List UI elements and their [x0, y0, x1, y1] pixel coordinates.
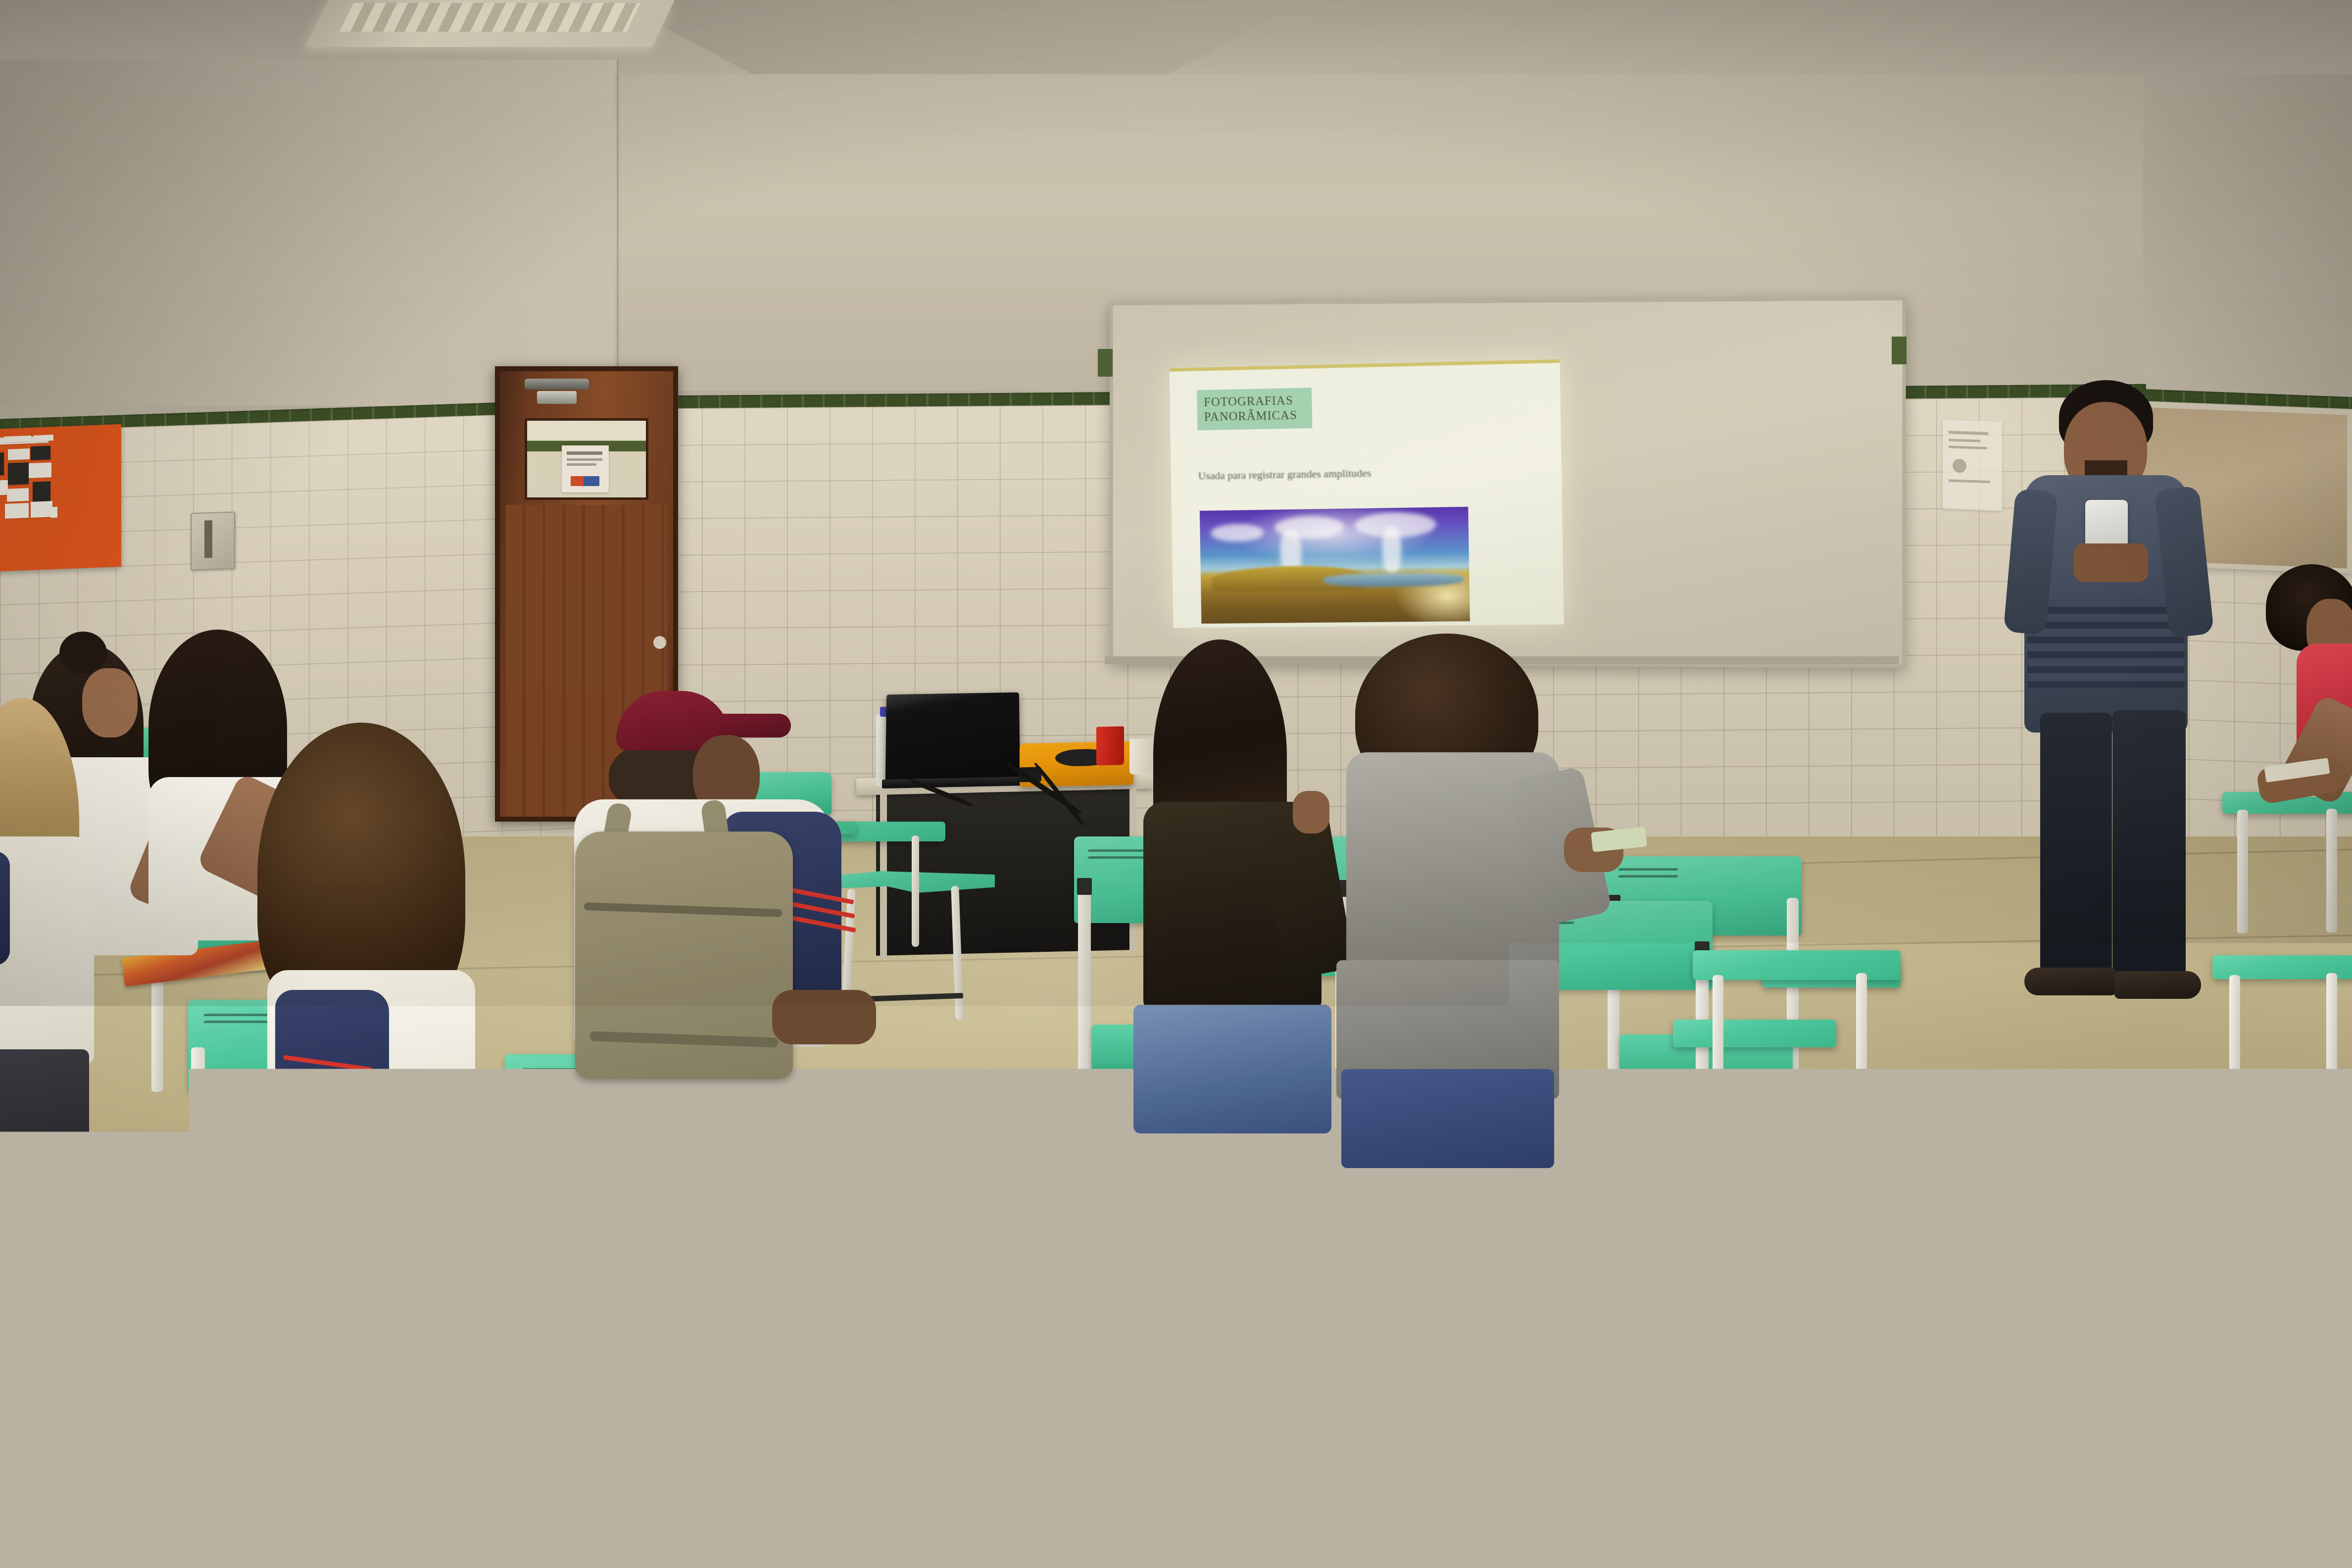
- slide-title-box: FOTOGRAFIAS PANORÂMICAS: [1197, 388, 1312, 430]
- board-text-card: [8, 448, 30, 460]
- student-blonde-pants: [0, 1049, 89, 1213]
- board-photo-card: [31, 445, 50, 460]
- door-closer-body: [537, 391, 577, 404]
- laptop-screen[interactable]: [885, 692, 1020, 784]
- student-shoe: [124, 1336, 272, 1406]
- student-cap-shoe: [940, 1297, 1029, 1344]
- student-long-hair-jeans: [1133, 1005, 1331, 1133]
- slide-subtitle: Usada para registrar grandes amplitudes: [1198, 464, 1534, 482]
- wall-notice-paper: [1943, 420, 2002, 511]
- student-curly-grey-jeans: [1341, 1069, 1554, 1168]
- wall-left-upper: [0, 59, 619, 406]
- light-switch[interactable]: [191, 511, 235, 570]
- presenter-right-leg: [2112, 710, 2186, 980]
- projected-slide: FOTOGRAFIAS PANORÂMICAS Usada para regis…: [1170, 359, 1564, 628]
- bulletin-board: [0, 424, 121, 572]
- board-photo-card: [8, 462, 29, 485]
- slide-title-line2: PANORÂMICAS: [1204, 408, 1312, 425]
- student-curly-front-shoe: [376, 1326, 505, 1386]
- ceiling-light-tubes: [340, 3, 640, 32]
- hair-bun: [59, 632, 107, 674]
- student-uniform-back-face: [82, 668, 138, 737]
- student-blonde-top: [0, 836, 94, 1064]
- presenter-right-shoe: [2114, 971, 2201, 999]
- whiteboard-bracket: [1098, 349, 1113, 377]
- student-cap-hand: [772, 990, 876, 1044]
- student-cap-jeans: [782, 1133, 926, 1223]
- whiteboard-bracket: [1892, 337, 1907, 364]
- board-text-card: [50, 507, 57, 518]
- board-photo-card: [33, 481, 50, 501]
- student-cap-shoe: [935, 1242, 1020, 1287]
- board-text-card: [29, 462, 51, 478]
- presenter-left-shoe: [2024, 968, 2116, 995]
- door-notice-paper: [562, 445, 609, 492]
- presenter-left-leg: [2040, 713, 2112, 980]
- presenter-shirt-stripes: [2027, 599, 2185, 688]
- door-handle-icon[interactable]: [653, 636, 666, 649]
- wall-corner-seam: [617, 59, 619, 416]
- board-text-card: [31, 501, 52, 518]
- student-long-hair-hand: [1293, 791, 1329, 833]
- classroom-scene: FOTOGRAFIAS PANORÂMICAS Usada para regis…: [0, 0, 2352, 1568]
- presenter-hands: [2074, 543, 2148, 582]
- board-header-card: [34, 435, 53, 441]
- slide-panoramic-photo: [1200, 507, 1470, 624]
- board-photo-card: [0, 452, 4, 476]
- foreground-arm: [1970, 1450, 2099, 1568]
- board-text-card: [5, 503, 29, 519]
- board-header-card: [4, 436, 31, 442]
- slide-title-line1: FOTOGRAFIAS: [1204, 393, 1312, 410]
- board-text-card: [7, 488, 29, 502]
- student-blonde-sleeve: [0, 851, 10, 965]
- cap-brim-icon: [717, 714, 791, 737]
- red-cup[interactable]: [1096, 726, 1124, 765]
- door-closer-arm: [525, 379, 589, 390]
- wall-right-upper: [2143, 74, 2352, 396]
